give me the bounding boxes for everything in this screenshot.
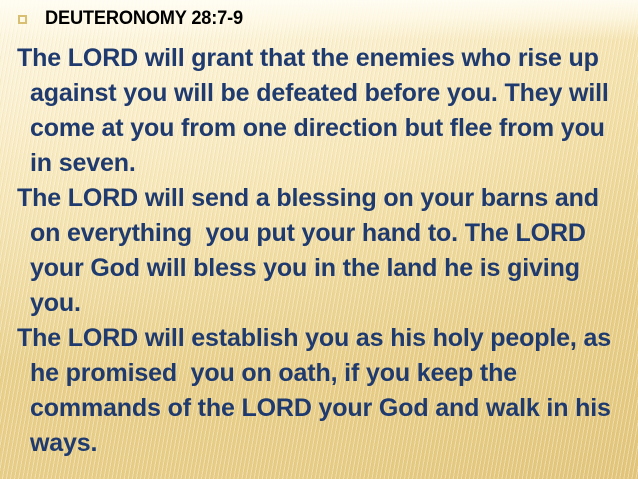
slide-title: DEUTERONOMY 28:7-9	[45, 9, 243, 28]
body-paragraph: The LORD will send a blessing on your ba…	[0, 181, 638, 321]
slide-content: DEUTERONOMY 28:7-9 The LORD will grant t…	[0, 0, 638, 479]
presentation-slide: DEUTERONOMY 28:7-9 The LORD will grant t…	[0, 0, 638, 479]
body-paragraph: The LORD will grant that the enemies who…	[0, 41, 638, 181]
body-paragraph: The LORD will establish you as his holy …	[0, 321, 638, 461]
hollow-square-bullet-icon	[18, 15, 27, 24]
slide-title-row: DEUTERONOMY 28:7-9	[0, 7, 251, 29]
slide-body: The LORD will grant that the enemies who…	[0, 41, 638, 461]
